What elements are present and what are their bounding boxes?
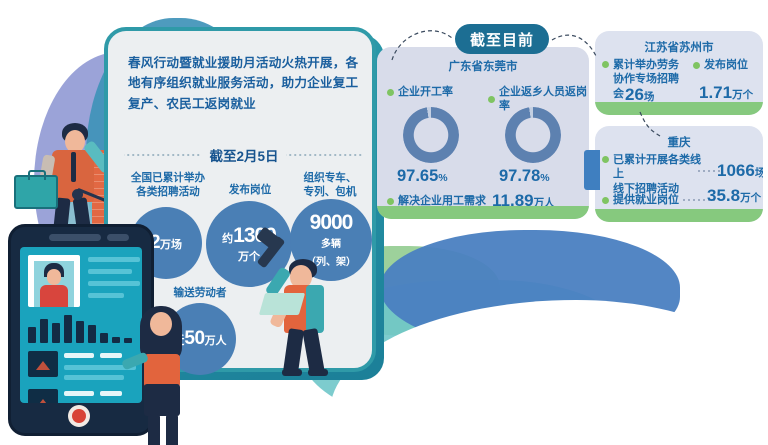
panel-accent-band-suzhou — [595, 102, 763, 115]
bullet-dot-icon — [602, 197, 609, 204]
smartphone-illustration — [8, 224, 154, 436]
panel-accent-band-chongqing — [595, 209, 763, 222]
value-return-rate: 97.78% — [499, 167, 550, 186]
bullet-dot-icon — [488, 96, 495, 103]
profile-photo — [28, 255, 80, 307]
bullet-dot-icon — [387, 198, 394, 205]
phone-speaker — [49, 234, 101, 241]
panel-suzhou: 江苏省苏州市 累计举办劳务 协作专场招聘会 26场 发布岗位 1.71万个 — [595, 31, 763, 115]
metric-label-startup-rate: 企业开工率 — [398, 85, 453, 99]
value-cq-events: 1066场 — [717, 161, 763, 181]
donut-chart-startup-rate — [403, 107, 459, 163]
value-startup-rate: 97.65% — [397, 167, 448, 186]
stat-label-transport: 组织专车、 专列、包机 — [288, 171, 372, 200]
laptop-icon — [259, 293, 305, 315]
infographic-canvas: 春风行动暨就业援助月活动火热开展，各地有序组织就业服务活动，助力企业复工复产、农… — [0, 0, 768, 445]
panel-accent-band-guangdong — [377, 206, 589, 219]
panel-guangdong: 广东省东莞市 企业开工率 企业返乡人员返岗率 97.65% 97.78% 解决企… — [377, 47, 589, 219]
bullet-dot-icon — [602, 61, 609, 68]
value-suzhou-jobs: 1.71万个 — [699, 83, 753, 103]
stat-label-workers-transferred: 输送劳动者 — [154, 286, 246, 300]
cutoff-date-divider: 截至2月5日 — [124, 146, 364, 164]
panel-tab-decor — [584, 150, 600, 190]
headline-text: 春风行动暨就业援助月活动火热开展，各地有序组织就业服务活动，助力企业复工复产、农… — [128, 53, 362, 114]
metric-label-suzhou-jobs: 发布岗位 — [704, 58, 748, 72]
value-cq-jobs: 35.8万个 — [707, 186, 761, 206]
cutoff-now-badge: 截至目前 — [455, 24, 549, 54]
panel-chongqing: 重庆 已累计开展各类线上 线下招聘活动 1066场 提供就业岗位 35.8万个 — [595, 126, 763, 222]
bullet-dot-icon — [387, 89, 394, 96]
metric-label-cq-jobs: 提供就业岗位 — [613, 193, 679, 207]
donut-chart-return-rate — [505, 107, 561, 163]
bullet-dot-icon — [693, 62, 700, 69]
cutoff-date-label: 截至2月5日 — [209, 145, 278, 165]
divider-dots-left — [124, 154, 202, 156]
bullet-dot-icon — [602, 156, 609, 163]
phone-camera — [107, 234, 129, 241]
panel-title-suzhou: 江苏省苏州市 — [595, 39, 763, 55]
stat-label-recruitment-events: 全国已累计举办 各类招聘活动 — [122, 171, 214, 200]
panel-title-chongqing: 重庆 — [595, 134, 763, 150]
divider-dots-right — [286, 154, 364, 156]
phone-screen — [20, 247, 142, 403]
stat-label-posted-jobs: 发布岗位 — [212, 183, 288, 197]
metric-label-cq-events: 已累计开展各类线上 线下招聘活动 — [613, 153, 705, 196]
panel-title-guangdong: 广东省东莞市 — [377, 58, 589, 74]
phone-home-button — [68, 405, 90, 427]
